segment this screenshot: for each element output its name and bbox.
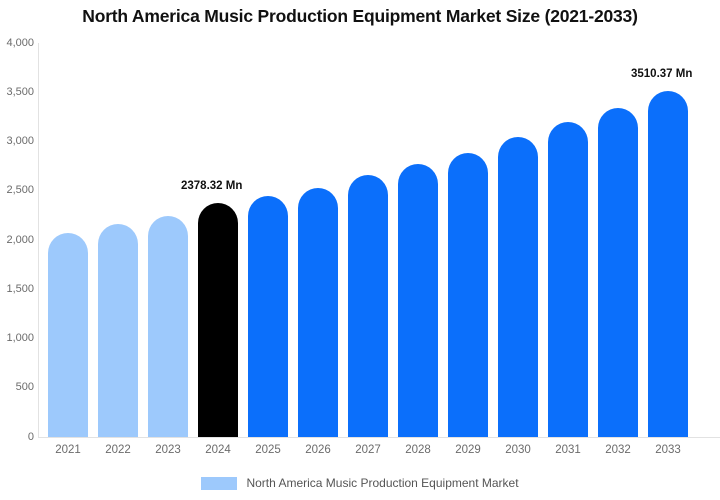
bar-2033[interactable] <box>648 91 688 437</box>
bar-slot <box>348 175 388 437</box>
y-axis-tick: 3,000 <box>0 136 34 147</box>
bar-slot <box>548 122 588 437</box>
y-axis-tick: 1,500 <box>0 284 34 295</box>
y-axis-tick: 2,500 <box>0 185 34 196</box>
bar-2031[interactable] <box>548 122 588 437</box>
y-axis-line <box>38 43 39 437</box>
bar-2027[interactable] <box>348 175 388 437</box>
bar-slot <box>48 233 88 437</box>
bar-2028[interactable] <box>398 164 438 437</box>
legend-label: North America Music Production Equipment… <box>246 476 518 490</box>
bar-slot <box>498 137 538 437</box>
bar-slot <box>298 188 338 437</box>
y-axis-tick: 3,500 <box>0 87 34 98</box>
bar-slot <box>648 91 688 437</box>
data-label-2033: 3510.37 Mn <box>631 68 692 80</box>
bar-slot <box>148 216 188 437</box>
bar-slot <box>598 108 638 437</box>
bar-slot <box>198 203 238 437</box>
bar-2022[interactable] <box>98 224 138 437</box>
bar-2025[interactable] <box>248 196 288 437</box>
bar-slot <box>98 224 138 437</box>
y-axis-tick: 500 <box>0 382 34 393</box>
legend-swatch <box>201 477 237 490</box>
bar-2032[interactable] <box>598 108 638 437</box>
plot-area: 05001,0001,5002,0002,5003,0003,5004,000 … <box>0 0 720 470</box>
y-axis-tick: 4,000 <box>0 38 34 49</box>
bar-slot <box>448 153 488 437</box>
chart-legend: North America Music Production Equipment… <box>0 476 720 490</box>
y-axis-tick: 0 <box>0 432 34 443</box>
y-axis-tick: 1,000 <box>0 333 34 344</box>
bar-2026[interactable] <box>298 188 338 437</box>
bar-2024[interactable] <box>198 203 238 437</box>
x-axis-line <box>38 437 720 438</box>
bar-2021[interactable] <box>48 233 88 437</box>
x-axis-tick: 2033 <box>638 444 698 456</box>
y-axis-tick: 2,000 <box>0 235 34 246</box>
chart-container: North America Music Production Equipment… <box>0 0 720 500</box>
bar-2030[interactable] <box>498 137 538 437</box>
bar-slot <box>248 196 288 437</box>
bar-2029[interactable] <box>448 153 488 437</box>
data-label-2024: 2378.32 Mn <box>181 180 242 192</box>
bar-2023[interactable] <box>148 216 188 437</box>
bar-slot <box>398 164 438 437</box>
